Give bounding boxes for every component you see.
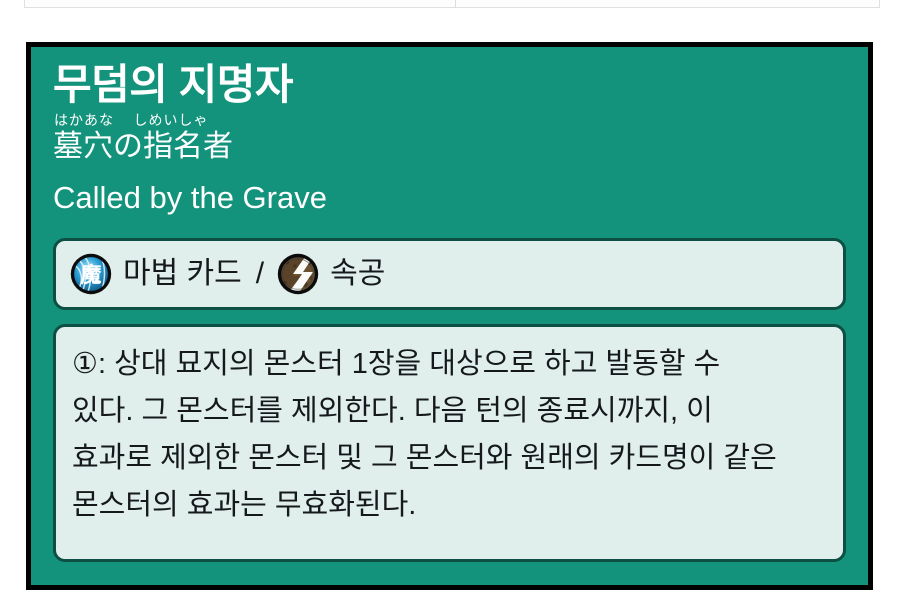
quick-play-icon — [277, 253, 319, 295]
card-type-bar: 魔 마법 카드 / — [53, 238, 846, 310]
card-type-spell-label: 마법 카드 — [123, 259, 242, 289]
yugioh-card: 무덤의 지명자 はかあな しめいしゃ 墓穴の指名者 Called by the … — [26, 42, 873, 590]
card-type-property: 속공 — [277, 253, 385, 295]
card-content: 무덤의 지명자 はかあな しめいしゃ 墓穴の指名者 Called by the … — [31, 47, 868, 562]
card-name-korean: 무덤의 지명자 — [53, 63, 846, 107]
card-name-japanese-ruby: はかあな しめいしゃ 墓穴の指名者 — [53, 113, 846, 163]
page-top-strip-bar — [24, 0, 880, 8]
card-name-japanese: 墓穴の指名者 — [53, 130, 233, 163]
card-effect-line: 효과로 제외한 몬스터 및 그 몬스터와 원래의 카드명이 같은 — [72, 435, 827, 482]
page-top-strip-divider — [455, 0, 456, 8]
card-type-property-label: 속공 — [330, 259, 385, 289]
card-type-spell: 魔 마법 카드 — [70, 253, 242, 295]
card-name-furigana: はかあな しめいしゃ — [54, 113, 846, 127]
card-effect-box: ①: 상대 묘지의 몬스터 1장을 대상으로 하고 발동할 수있다. 그 몬스터… — [53, 324, 846, 562]
page-top-strip — [0, 0, 900, 10]
card-effect-text: ①: 상대 묘지의 몬스터 1장을 대상으로 하고 발동할 수있다. 그 몬스터… — [72, 341, 827, 529]
card-effect-line: 몬스터의 효과는 무효화된다. — [72, 482, 827, 529]
card-name-english: Called by the Grave — [53, 181, 846, 215]
card-effect-line: ①: 상대 묘지의 몬스터 1장을 대상으로 하고 발동할 수 — [72, 341, 827, 388]
card-type-separator: / — [256, 259, 264, 289]
svg-text:魔: 魔 — [81, 263, 102, 287]
card-effect-line: 있다. 그 몬스터를 제외한다. 다음 턴의 종료시까지, 이 — [72, 388, 827, 435]
spell-magic-icon: 魔 — [70, 253, 112, 295]
